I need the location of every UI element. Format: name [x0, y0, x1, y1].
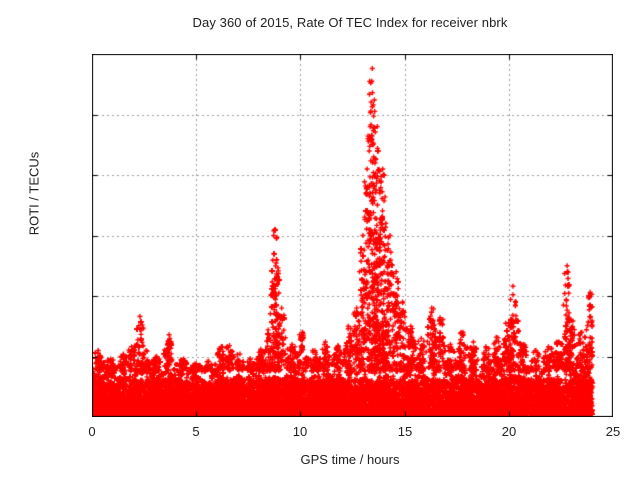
x-axis-label: GPS time / hours	[0, 452, 640, 467]
xtick-label-3: 15	[365, 424, 445, 439]
chart-title: Day 360 of 2015, Rate Of TEC Index for r…	[0, 15, 640, 30]
chart-figure: Day 360 of 2015, Rate Of TEC Index for r…	[0, 0, 640, 480]
xtick-label-4: 20	[469, 424, 549, 439]
y-axis-label: ROTI / TECUs	[27, 114, 42, 274]
plot-area	[92, 54, 613, 417]
xtick-label-1: 5	[156, 424, 236, 439]
xtick-label-5: 25	[573, 424, 640, 439]
xtick-label-0: 0	[52, 424, 132, 439]
xtick-label-2: 10	[260, 424, 340, 439]
scatter-plot-canvas	[92, 54, 613, 417]
